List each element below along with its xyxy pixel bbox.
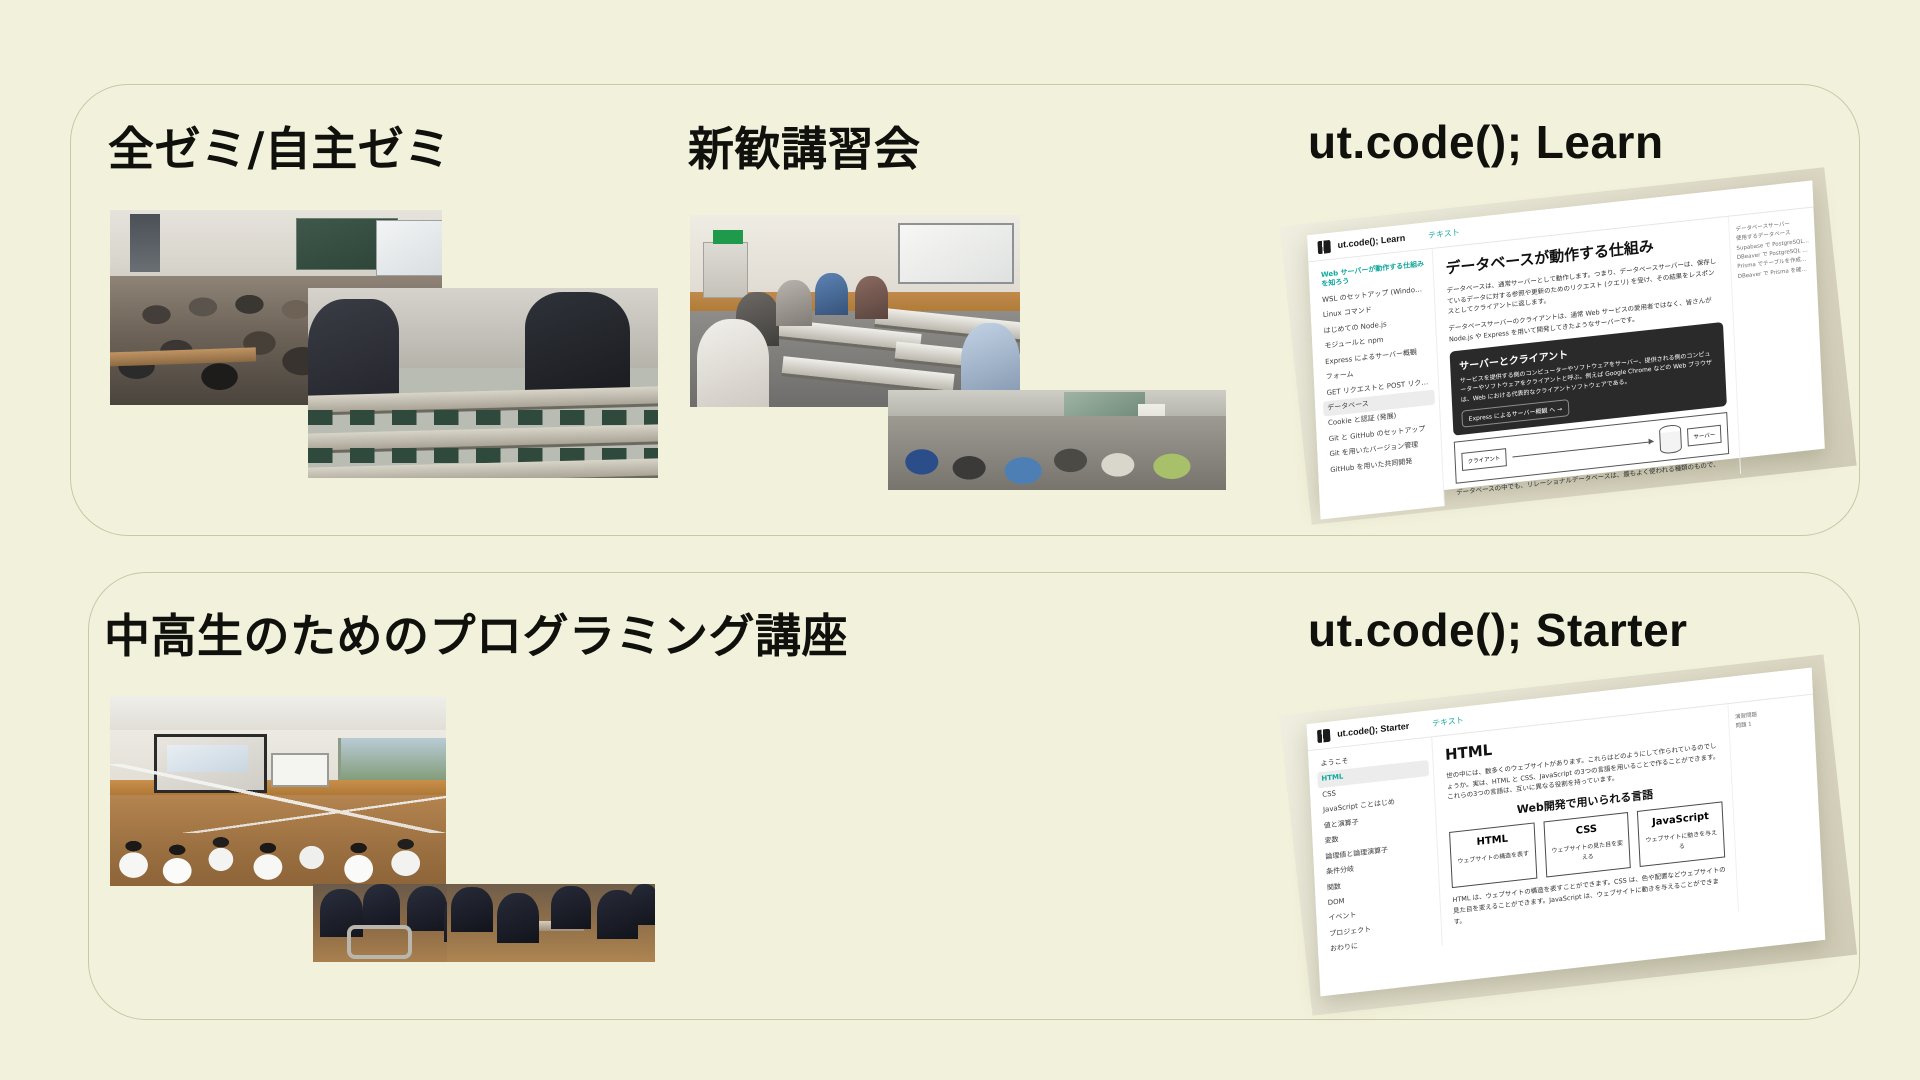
photo-lab-room: [888, 390, 1226, 490]
photo-jhs-hands: [110, 696, 446, 886]
learn-article: データベースが動作する仕組み データベースは、通常サーバーとして動作します。つま…: [1433, 217, 1740, 506]
heading-zemi: 全ゼミ/自主ゼミ: [108, 113, 451, 179]
language-card-javascript: JavaScript ウェブサイトに動きを与える: [1637, 802, 1725, 868]
starter-nav-text-link[interactable]: テキスト: [1432, 714, 1464, 729]
photo-layer-doorway: [703, 242, 748, 298]
photo-layer-chair: [347, 925, 412, 960]
diagram-server-label: サーバー: [1687, 425, 1722, 447]
photo-layer-student: [363, 884, 400, 926]
photo-classroom-tables: [690, 215, 1020, 407]
database-cylinder-icon: [1659, 424, 1682, 454]
starter-article: HTML 世の中には、数多くのウェブサイトがあります。これらはどのようにして作ら…: [1432, 704, 1738, 945]
language-card-desc: ウェブサイトの構造を表す: [1455, 849, 1531, 867]
language-card-title: CSS: [1549, 821, 1625, 840]
learn-brand-label: ut.code(); Learn: [1337, 233, 1405, 250]
photo-layer-student: [451, 887, 493, 932]
photo-layer-audience: [888, 416, 1226, 490]
language-card-desc: ウェブサイトの見た目を変える: [1549, 839, 1625, 867]
screenshot-utcode-starter: ut.code(); Starter テキスト ようこそ HTML CSS Ja…: [1307, 668, 1826, 997]
photo-jhs-desks-b: [447, 884, 655, 962]
slide-page: 全ゼミ/自主ゼミ 新歓講習会 ut.code(); Learn: [0, 0, 1920, 1080]
photo-layer-board: [1064, 392, 1145, 418]
photo-layer-students: [110, 791, 446, 886]
utcode-logo-icon: [1317, 728, 1331, 742]
language-card-css: CSS ウェブサイトの見た目を変える: [1543, 812, 1631, 878]
learn-callout-link-button[interactable]: Express によるサーバー概観 へ →: [1461, 399, 1569, 428]
photo-layer-exit-sign: [713, 230, 743, 243]
photo-layer-student: [630, 884, 655, 925]
utcode-logo-icon: [1317, 239, 1331, 253]
photo-layer-projection-screen: [376, 220, 442, 277]
heading-starter: ut.code(); Starter: [1308, 603, 1688, 657]
language-card-title: JavaScript: [1643, 810, 1719, 829]
screenshot-utcode-learn: ut.code(); Learn テキスト Web サーバーが動作する仕組みを知…: [1307, 180, 1825, 503]
language-card-desc: ウェブサイトに動きを与える: [1644, 828, 1720, 856]
starter-brand-label: ut.code(); Starter: [1337, 721, 1410, 739]
learn-toc[interactable]: データベースサーバー 使用するデータベース Supabase で Postgre…: [1728, 207, 1826, 474]
language-card-title: HTML: [1454, 831, 1530, 850]
starter-sidebar[interactable]: ようこそ HTML CSS JavaScript ことはじめ 値と演算子 変数 …: [1308, 737, 1443, 959]
photo-layer-student: [497, 893, 539, 943]
diagram-client-label: クライアント: [1461, 448, 1506, 471]
photo-layer-student: [776, 280, 812, 326]
heading-jhs-course: 中高生のためのプログラミング講座: [104, 600, 848, 666]
photo-layer-student: [815, 273, 848, 315]
photo-layer-student: [697, 319, 770, 407]
photo-layer-student: [551, 886, 591, 930]
photo-layer-whiteboard: [898, 223, 1014, 285]
photo-layer-person-right: [525, 292, 630, 391]
diagram-arrow-icon: [1512, 441, 1653, 457]
photo-layer-student: [855, 276, 888, 318]
heading-learn: ut.code(); Learn: [1308, 115, 1664, 169]
photo-layer-seat-row: [308, 410, 658, 425]
photo-lecture-seats: [308, 288, 658, 478]
language-card-html: HTML ウェブサイトの構造を表す: [1449, 823, 1537, 889]
heading-shinkan: 新歓講習会: [688, 113, 921, 179]
learn-sidebar[interactable]: Web サーバーが動作する仕組みを知ろう WSL のセットアップ (Window…: [1308, 249, 1444, 520]
photo-layer-doorway: [130, 214, 160, 273]
learn-nav-text-link[interactable]: テキスト: [1428, 226, 1460, 240]
photo-layer-student: [407, 886, 447, 931]
starter-toc[interactable]: 演習問題 問題 1: [1727, 695, 1823, 912]
